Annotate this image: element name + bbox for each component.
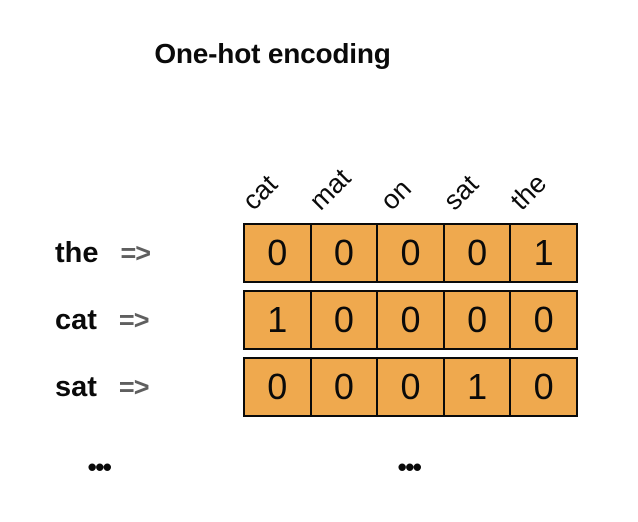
one-hot-encoding-figure: One-hot encoding cat mat on sat the the …: [0, 0, 638, 522]
ellipsis-matrix: •••: [398, 454, 421, 480]
one-hot-matrix: 0 0 0 0 1 1 0 0 0 0 0 0 0 1 0: [243, 223, 578, 417]
page-title: One-hot encoding: [0, 38, 545, 70]
matrix-cell: 0: [378, 359, 445, 415]
matrix-cell: 0: [312, 359, 379, 415]
row-label-the: the =>: [55, 223, 233, 283]
column-header-row: cat mat on sat the: [243, 123, 578, 215]
matrix-cell: 0: [378, 292, 445, 348]
arrow-icon: =>: [119, 307, 149, 334]
ellipsis-rows: •••: [88, 454, 111, 480]
table-row: 0 0 0 0 1: [243, 223, 578, 283]
column-header-cat: cat: [238, 170, 283, 215]
arrow-icon: =>: [121, 240, 151, 267]
matrix-cell: 0: [445, 225, 512, 281]
row-word-cat: cat: [55, 306, 97, 335]
row-word-sat: sat: [55, 373, 97, 402]
table-row: 0 0 0 1 0: [243, 357, 578, 417]
row-word-the: the: [55, 239, 99, 268]
matrix-cell: 1: [445, 359, 512, 415]
matrix-cell: 0: [445, 292, 512, 348]
matrix-cell: 0: [378, 225, 445, 281]
matrix-cell: 0: [511, 359, 576, 415]
matrix-cell: 0: [245, 359, 312, 415]
matrix-cell: 0: [511, 292, 576, 348]
matrix-cell: 0: [245, 225, 312, 281]
matrix-cell: 0: [312, 292, 379, 348]
matrix-cell: 1: [511, 225, 576, 281]
column-header-sat: sat: [439, 170, 484, 215]
row-label-sat: sat =>: [55, 357, 233, 417]
column-header-on: on: [376, 175, 416, 215]
matrix-cell: 0: [312, 225, 379, 281]
table-row: 1 0 0 0 0: [243, 290, 578, 350]
column-header-mat: mat: [305, 164, 356, 215]
matrix-cell: 1: [245, 292, 312, 348]
column-header-the: the: [506, 169, 552, 215]
arrow-icon: =>: [119, 374, 149, 401]
row-label-cat: cat =>: [55, 290, 233, 350]
